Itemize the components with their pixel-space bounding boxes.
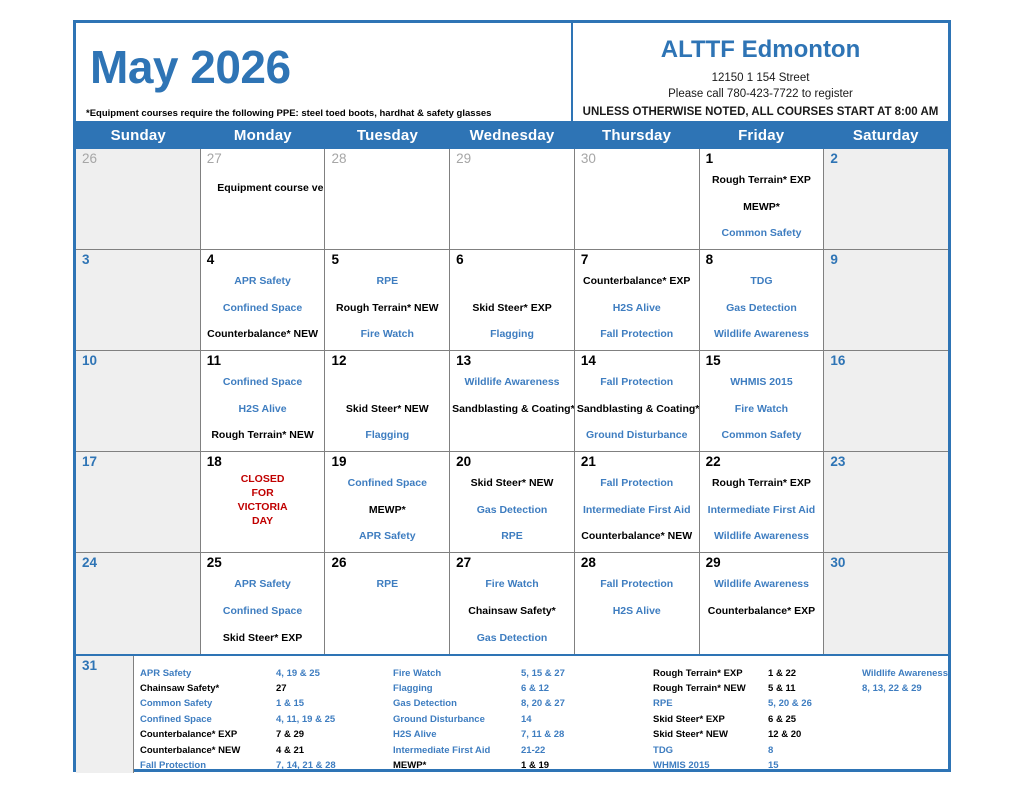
- day-number: 12: [328, 353, 446, 369]
- day-events: RPE: [325, 571, 449, 652]
- day-number: 22: [703, 454, 821, 470]
- summary-course-dates: 7, 14, 21 & 28: [276, 758, 391, 773]
- event-item[interactable]: Gas Detection: [702, 302, 822, 314]
- day-number: 23: [827, 454, 945, 470]
- summary-course-dates: 21-22: [521, 743, 651, 758]
- event-item[interactable]: Confined Space: [203, 376, 323, 388]
- summary-course-dates: 5, 15 & 27: [521, 666, 651, 681]
- day-number: 5: [328, 252, 446, 268]
- day-number: 11: [204, 353, 322, 369]
- day-number: 17: [79, 454, 197, 470]
- day-cell-26[interactable]: 26: [76, 149, 201, 249]
- summary-course-dates: 4 & 21: [276, 743, 391, 758]
- event-item[interactable]: RPE: [327, 578, 447, 590]
- event-item[interactable]: H2S Alive: [577, 302, 697, 314]
- day-events: Fall ProtectionH2S Alive: [575, 571, 699, 652]
- equipment-version-note: Equipment course versions; NEW for membe…: [207, 179, 326, 217]
- event-item[interactable]: Intermediate First Aid: [702, 504, 822, 516]
- day-cell-30[interactable]: 30: [824, 553, 948, 654]
- day-cell-12[interactable]: 12 Skid Steer* NEWFlagging: [325, 351, 450, 451]
- event-item[interactable]: Common Safety: [702, 227, 822, 239]
- event-item[interactable]: Counterbalance* NEW: [577, 530, 697, 542]
- event-item[interactable]: RPE: [327, 275, 447, 287]
- day-events: Counterbalance* EXPH2S AliveFall Protect…: [575, 268, 699, 348]
- summary-course-name[interactable]: APR Safety: [140, 666, 276, 681]
- summary-course-name[interactable]: Counterbalance* EXP: [140, 727, 276, 742]
- summary-course-dates: 1 & 19: [521, 758, 651, 773]
- summary-course-name[interactable]: RPE: [653, 696, 768, 711]
- day-cell-9[interactable]: 9: [824, 250, 948, 350]
- day-number: 28: [578, 555, 696, 571]
- day-number: 8: [703, 252, 821, 268]
- event-item[interactable]: Fall Protection: [577, 578, 697, 590]
- weekday-saturday: Saturday: [823, 123, 948, 149]
- event-item[interactable]: Sandblasting & Coating*: [452, 403, 572, 415]
- day-number: 9: [827, 252, 945, 268]
- day-events: Confined SpaceMEWP*APR Safety: [325, 470, 449, 550]
- calendar-grid: 2627Equipment course versions; NEW for m…: [76, 149, 948, 654]
- event-item[interactable]: Counterbalance* EXP: [577, 275, 697, 287]
- event-item[interactable]: APR Safety: [327, 530, 447, 542]
- weekday-header-row: Sunday Monday Tuesday Wednesday Thursday…: [76, 123, 948, 149]
- summary-course-name[interactable]: Common Safety: [140, 696, 276, 711]
- event-item[interactable]: Fall Protection: [577, 328, 697, 340]
- day-events: WHMIS 2015Fire WatchCommon Safety: [700, 369, 824, 449]
- day-number: 29: [453, 151, 571, 167]
- event-item[interactable]: Common Safety: [702, 429, 822, 441]
- event-item[interactable]: APR Safety: [203, 275, 323, 287]
- day-cell-16[interactable]: 16: [824, 351, 948, 451]
- day-cell-30[interactable]: 30: [575, 149, 700, 249]
- day-number: 27: [204, 151, 322, 167]
- closed-notice-line: VICTORIA: [201, 500, 325, 514]
- summary-course-names-column: APR SafetyChainsaw Safety*Common SafetyC…: [134, 666, 276, 774]
- day-cell-8[interactable]: 8TDGGas DetectionWildlife Awareness: [700, 250, 825, 350]
- summary-course-name[interactable]: Counterbalance* NEW: [140, 743, 276, 758]
- event-item[interactable]: Sandblasting & Coating*: [577, 403, 697, 415]
- course-summary-row: 31 APR SafetyChainsaw Safety*Common Safe…: [76, 654, 948, 774]
- summary-course-name[interactable]: MEWP*: [393, 758, 521, 773]
- event-item[interactable]: MEWP*: [702, 201, 822, 213]
- day-cell-5[interactable]: 5RPERough Terrain* NEWFire Watch: [325, 250, 450, 350]
- day-number: 26: [328, 555, 446, 571]
- summary-course-dates: 8, 20 & 27: [521, 696, 651, 711]
- summary-course-name[interactable]: TDG: [653, 743, 768, 758]
- summary-course-name[interactable]: Skid Steer* NEW: [653, 727, 768, 742]
- day-number: 3: [79, 252, 197, 268]
- summary-course-dates: 5 & 11: [768, 681, 858, 696]
- ppe-note: *Equipment courses require the following…: [86, 108, 491, 119]
- day-cell-25[interactable]: 25APR SafetyConfined SpaceSkid Steer* EX…: [201, 553, 326, 654]
- summary-course-name[interactable]: Skid Steer* EXP: [653, 712, 768, 727]
- month-title-panel: May 2026 *Equipment courses require the …: [76, 23, 573, 121]
- day-events: Skid Steer* NEWFlagging: [325, 369, 449, 449]
- event-item[interactable]: Fall Protection: [577, 477, 697, 489]
- summary-course-name[interactable]: Wildlife Awareness: [862, 666, 948, 681]
- org-notice: UNLESS OTHERWISE NOTED, ALL COURSES STAR…: [573, 104, 948, 121]
- day-cell-4[interactable]: 4APR SafetyConfined SpaceCounterbalance*…: [201, 250, 326, 350]
- event-item[interactable]: Confined Space: [327, 477, 447, 489]
- event-item[interactable]: Intermediate First Aid: [577, 504, 697, 516]
- day-events: Wildlife AwarenessSandblasting & Coating…: [450, 369, 574, 449]
- day-events: Fall ProtectionIntermediate First AidCou…: [575, 470, 699, 550]
- event-item[interactable]: Wildlife Awareness: [702, 578, 822, 590]
- event-item[interactable]: Wildlife Awareness: [702, 530, 822, 542]
- summary-course-name[interactable]: Confined Space: [140, 712, 276, 727]
- calendar-container: May 2026 *Equipment courses require the …: [73, 20, 951, 772]
- day-number: 31: [79, 658, 130, 674]
- event-item[interactable]: Flagging: [327, 429, 447, 441]
- event-item[interactable]: Fire Watch: [702, 403, 822, 415]
- event-item[interactable]: Confined Space: [203, 605, 323, 617]
- summary-course-name[interactable]: Flagging: [393, 681, 521, 696]
- day-cell-7[interactable]: 7Counterbalance* EXPH2S AliveFall Protec…: [575, 250, 700, 350]
- event-item[interactable]: Wildlife Awareness: [702, 328, 822, 340]
- calendar-week-row: 1718CLOSEDFORVICTORIADAY19Confined Space…: [76, 452, 948, 553]
- event-item[interactable]: Rough Terrain* NEW: [203, 429, 323, 441]
- day-events: APR SafetyConfined SpaceCounterbalance* …: [201, 268, 325, 348]
- summary-course-dates: 1 & 15: [276, 696, 391, 711]
- day-events: Fall ProtectionSandblasting & Coating*Gr…: [575, 369, 699, 449]
- day-number: 4: [204, 252, 322, 268]
- event-item[interactable]: Fall Protection: [577, 376, 697, 388]
- summary-course-name[interactable]: Rough Terrain* NEW: [653, 681, 768, 696]
- org-phone: Please call 780-423-7722 to register: [573, 86, 948, 103]
- summary-course-dates: 27: [276, 681, 391, 696]
- day-cell-21[interactable]: 21Fall ProtectionIntermediate First AidC…: [575, 452, 700, 552]
- summary-course-name[interactable]: 8, 13, 22 & 29: [862, 681, 948, 696]
- weekday-friday: Friday: [699, 123, 824, 149]
- summary-course-name[interactable]: Intermediate First Aid: [393, 743, 521, 758]
- summary-course-name[interactable]: Ground Disturbance: [393, 712, 521, 727]
- summary-course-name[interactable]: Gas Detection: [393, 696, 521, 711]
- page-title: May 2026: [90, 23, 571, 91]
- calendar-page: May 2026 *Equipment courses require the …: [0, 0, 1024, 791]
- summary-course-dates: 4, 11, 19 & 25: [276, 712, 391, 727]
- day-events: Rough Terrain* EXPMEWP*Common Safety: [700, 167, 824, 247]
- summary-course-dates-column: 5, 15 & 276 & 128, 20 & 27147, 11 & 2821…: [521, 666, 651, 774]
- summary-course-dates: 6 & 12: [521, 681, 651, 696]
- day-cell-18[interactable]: 18CLOSEDFORVICTORIADAY: [201, 452, 326, 552]
- day-events: Skid Steer* NEWGas DetectionRPE: [450, 470, 574, 550]
- summary-course-dates: 12 & 20: [768, 727, 858, 742]
- day-events: RPERough Terrain* NEWFire Watch: [325, 268, 449, 348]
- day-number: 30: [827, 555, 945, 571]
- day-cell-13[interactable]: 13Wildlife AwarenessSandblasting & Coati…: [450, 351, 575, 451]
- day-cell-27[interactable]: 27Fire WatchChainsaw Safety*Gas Detectio…: [450, 553, 575, 654]
- summary-course-name[interactable]: Fall Protection: [140, 758, 276, 773]
- day-number: 18: [204, 454, 322, 470]
- event-item[interactable]: H2S Alive: [577, 605, 697, 617]
- day-events: Skid Steer* EXPFlagging: [450, 268, 574, 348]
- day-number: 20: [453, 454, 571, 470]
- summary-course-dates: 8: [768, 743, 858, 758]
- summary-course-dates: 1 & 22: [768, 666, 858, 681]
- day-cell-29[interactable]: 29Wildlife AwarenessCounterbalance* EXP: [700, 553, 825, 654]
- summary-course-name[interactable]: Chainsaw Safety*: [140, 681, 276, 696]
- event-item[interactable]: Wildlife Awareness: [452, 376, 572, 388]
- summary-course-name[interactable]: Rough Terrain* EXP: [653, 666, 768, 681]
- event-item[interactable]: Flagging: [452, 328, 572, 340]
- day-number: 16: [827, 353, 945, 369]
- event-item[interactable]: Chainsaw Safety*: [452, 605, 572, 617]
- event-item[interactable]: Counterbalance* EXP: [702, 605, 822, 617]
- day-cell-17[interactable]: 17: [76, 452, 201, 552]
- summary-course-dates: 5, 20 & 26: [768, 696, 858, 711]
- day-number: 27: [453, 555, 571, 571]
- day-cell-6[interactable]: 6 Skid Steer* EXPFlagging: [450, 250, 575, 350]
- day-number: 10: [79, 353, 197, 369]
- calendar-week-row: 2627Equipment course versions; NEW for m…: [76, 149, 948, 250]
- weekday-wednesday: Wednesday: [450, 123, 575, 149]
- day-events: APR SafetyConfined SpaceSkid Steer* EXP: [201, 571, 325, 652]
- summary-course-dates: 6 & 25: [768, 712, 858, 727]
- event-item[interactable]: Rough Terrain* EXP: [702, 477, 822, 489]
- day-number: 6: [453, 252, 571, 268]
- day-events: Confined SpaceH2S AliveRough Terrain* NE…: [201, 369, 325, 449]
- day-number: 19: [328, 454, 446, 470]
- day-cell-10[interactable]: 10: [76, 351, 201, 451]
- summary-course-dates: 15: [768, 758, 858, 773]
- summary-course-dates-column: 1 & 225 & 115, 20 & 266 & 2512 & 20815: [768, 666, 858, 774]
- event-item[interactable]: Gas Detection: [452, 504, 572, 516]
- day-number: 1: [703, 151, 821, 167]
- summary-course-dates: 7, 11 & 28: [521, 727, 651, 742]
- calendar-week-row: 34APR SafetyConfined SpaceCounterbalance…: [76, 250, 948, 351]
- org-info-panel: ALTTF Edmonton 12150 1 154 Street Please…: [573, 23, 948, 121]
- org-name: ALTTF Edmonton: [573, 36, 948, 64]
- day-number: 2: [827, 151, 945, 167]
- event-item[interactable]: Skid Steer* NEW: [452, 477, 572, 489]
- day-cell-29[interactable]: 29: [450, 149, 575, 249]
- event-item[interactable]: MEWP*: [327, 504, 447, 516]
- event-item[interactable]: Gas Detection: [452, 632, 572, 644]
- closed-notice-line: CLOSED: [201, 472, 325, 486]
- day-events: Fire WatchChainsaw Safety*Gas Detection: [450, 571, 574, 652]
- event-item[interactable]: Skid Steer* NEW: [327, 403, 447, 415]
- day-cell-19[interactable]: 19Confined SpaceMEWP*APR Safety: [325, 452, 450, 552]
- day-cell-24[interactable]: 24: [76, 553, 201, 654]
- org-address: 12150 1 154 Street: [573, 70, 948, 87]
- summary-course-name[interactable]: H2S Alive: [393, 727, 521, 742]
- event-item[interactable]: Fire Watch: [452, 578, 572, 590]
- day-cell-22[interactable]: 22Rough Terrain* EXPIntermediate First A…: [700, 452, 825, 552]
- day-cell-23[interactable]: 23: [824, 452, 948, 552]
- day-number: 30: [578, 151, 696, 167]
- day-cell-15[interactable]: 15WHMIS 2015Fire WatchCommon Safety: [700, 351, 825, 451]
- event-item[interactable]: Counterbalance* NEW: [203, 328, 323, 340]
- day-cell-26[interactable]: 26RPE: [325, 553, 450, 654]
- day-cell-28[interactable]: 28: [325, 149, 450, 249]
- calendar-header: May 2026 *Equipment courses require the …: [76, 23, 948, 123]
- event-item[interactable]: Skid Steer* EXP: [203, 632, 323, 644]
- day-number: 25: [204, 555, 322, 571]
- event-item[interactable]: H2S Alive: [203, 403, 323, 415]
- day-events: Wildlife AwarenessCounterbalance* EXP: [700, 571, 824, 652]
- event-item[interactable]: APR Safety: [203, 578, 323, 590]
- closed-notice-line: FOR: [201, 486, 325, 500]
- day-cell-31[interactable]: 31: [76, 656, 134, 774]
- day-events: Rough Terrain* EXPIntermediate First Aid…: [700, 470, 824, 550]
- day-number: 28: [328, 151, 446, 167]
- summary-course-name[interactable]: WHMIS 2015: [653, 758, 768, 773]
- course-index: APR SafetyChainsaw Safety*Common SafetyC…: [134, 656, 948, 774]
- weekday-thursday: Thursday: [574, 123, 699, 149]
- day-number: 26: [79, 151, 197, 167]
- day-events: TDGGas DetectionWildlife Awareness: [700, 268, 824, 348]
- day-number: 7: [578, 252, 696, 268]
- event-item[interactable]: WHMIS 2015: [702, 376, 822, 388]
- weekday-monday: Monday: [201, 123, 326, 149]
- summary-course-names-column: Rough Terrain* EXPRough Terrain* NEWRPES…: [651, 666, 768, 774]
- day-cell-2[interactable]: 2: [824, 149, 948, 249]
- event-item[interactable]: Ground Disturbance: [577, 429, 697, 441]
- calendar-week-row: 2425APR SafetyConfined SpaceSkid Steer* …: [76, 553, 948, 654]
- event-item[interactable]: Fire Watch: [327, 328, 447, 340]
- summary-course-dates: 4, 19 & 25: [276, 666, 391, 681]
- event-item[interactable]: Skid Steer* EXP: [452, 302, 572, 314]
- day-number: 15: [703, 353, 821, 369]
- summary-course-dates: 14: [521, 712, 651, 727]
- day-cell-27[interactable]: 27Equipment course versions; NEW for mem…: [201, 149, 326, 249]
- summary-course-name[interactable]: Fire Watch: [393, 666, 521, 681]
- event-item[interactable]: TDG: [702, 275, 822, 287]
- day-cell-28[interactable]: 28Fall ProtectionH2S Alive: [575, 553, 700, 654]
- event-item[interactable]: Rough Terrain* EXP: [702, 174, 822, 186]
- day-cell-1[interactable]: 1Rough Terrain* EXPMEWP*Common Safety: [700, 149, 825, 249]
- event-item[interactable]: Rough Terrain* NEW: [327, 302, 447, 314]
- closed-notice-line: DAY: [201, 514, 325, 528]
- day-cell-14[interactable]: 14Fall ProtectionSandblasting & Coating*…: [575, 351, 700, 451]
- day-number: 24: [79, 555, 197, 571]
- day-number: 13: [453, 353, 571, 369]
- day-number: 14: [578, 353, 696, 369]
- day-cell-11[interactable]: 11Confined SpaceH2S AliveRough Terrain* …: [201, 351, 326, 451]
- event-item[interactable]: Confined Space: [203, 302, 323, 314]
- summary-course-dates: 7 & 29: [276, 727, 391, 742]
- day-number: 29: [703, 555, 821, 571]
- weekday-sunday: Sunday: [76, 123, 201, 149]
- calendar-week-row: 1011Confined SpaceH2S AliveRough Terrain…: [76, 351, 948, 452]
- day-cell-3[interactable]: 3: [76, 250, 201, 350]
- day-cell-20[interactable]: 20Skid Steer* NEWGas DetectionRPE: [450, 452, 575, 552]
- event-item[interactable]: RPE: [452, 530, 572, 542]
- closed-notice: CLOSEDFORVICTORIADAY: [201, 472, 325, 528]
- summary-course-names-column: Wildlife Awareness8, 13, 22 & 29: [858, 666, 948, 774]
- summary-course-dates-column: 4, 19 & 25271 & 154, 11, 19 & 257 & 294 …: [276, 666, 391, 774]
- weekday-tuesday: Tuesday: [325, 123, 450, 149]
- day-number: 21: [578, 454, 696, 470]
- summary-course-names-column: Fire WatchFlaggingGas DetectionGround Di…: [391, 666, 521, 774]
